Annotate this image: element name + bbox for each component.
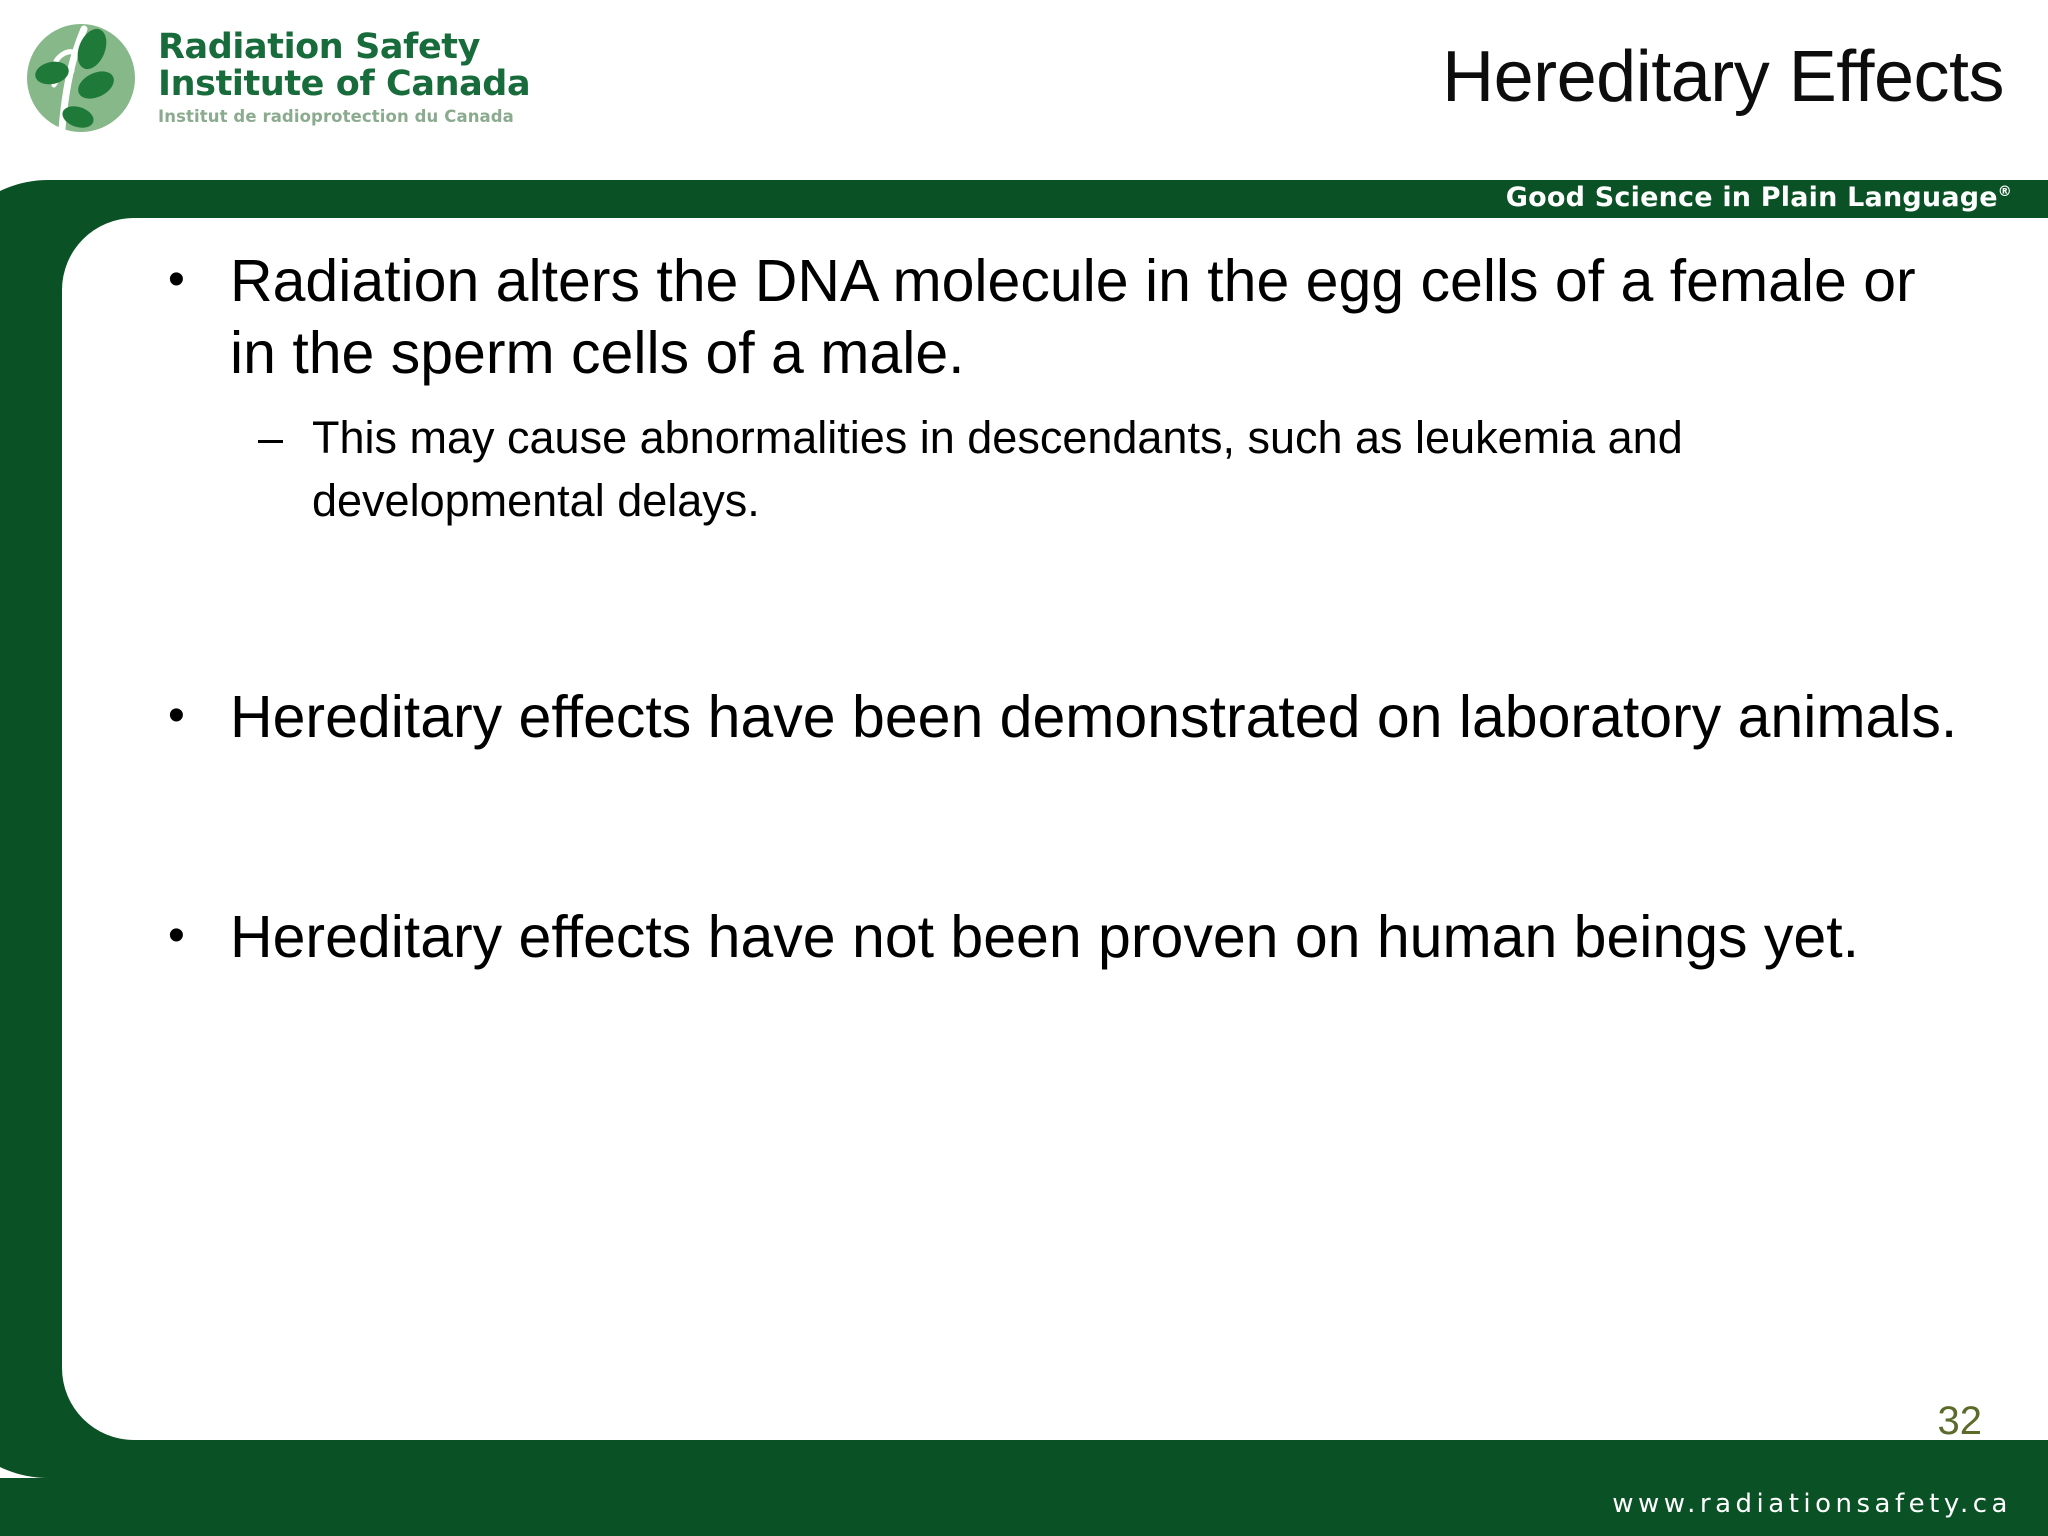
organization-logo: Radiation Safety Institute of Canada Ins… (22, 18, 530, 138)
website-url[interactable]: www.radiationsafety.ca (1612, 1489, 2012, 1519)
slide-header: Radiation Safety Institute of Canada Ins… (0, 0, 2048, 180)
bullet-text: Radiation alters the DNA molecule in the… (230, 246, 1960, 390)
bullet-text: Hereditary effects have been demonstrate… (230, 682, 1960, 754)
sub-bullet-text: This may cause abnormalities in descenda… (312, 406, 1882, 532)
bullet-marker-icon: • (168, 682, 185, 750)
logo-line-3-french: Institut de radioprotection du Canada (158, 109, 530, 126)
page-title: Hereditary Effects (1442, 36, 2004, 118)
dash-marker-icon: – (258, 406, 283, 469)
brand-tagline: Good Science in Plain Language® (1506, 182, 2012, 213)
bullet-list: • Radiation alters the DNA molecule in t… (150, 246, 1960, 974)
bullet-marker-icon: • (168, 246, 185, 314)
slide-body: • Radiation alters the DNA molecule in t… (150, 246, 1960, 1396)
bullet-text: Hereditary effects have not been proven … (230, 902, 1960, 974)
list-item: • Radiation alters the DNA molecule in t… (150, 246, 1960, 532)
registered-mark: ® (1998, 184, 2012, 200)
logo-line-1: Radiation Safety (158, 30, 530, 65)
bullet-marker-icon: • (168, 902, 185, 970)
vertical-spacer (150, 532, 1960, 682)
logo-line-2: Institute of Canada (158, 67, 530, 102)
slide: Radiation Safety Institute of Canada Ins… (0, 0, 2048, 1536)
tagline-text: Good Science in Plain Language (1506, 182, 1998, 213)
footer-bar: www.radiationsafety.ca (0, 1478, 2048, 1536)
sub-bullet-list: – This may cause abnormalities in descen… (230, 406, 1960, 532)
list-item: • Hereditary effects have not been prove… (150, 902, 1960, 974)
list-item: – This may cause abnormalities in descen… (244, 406, 1882, 532)
vertical-spacer (150, 754, 1960, 902)
page-number: 32 (1938, 1399, 1983, 1444)
leaf-branch-logo-icon (22, 19, 140, 137)
list-item: • Hereditary effects have been demonstra… (150, 682, 1960, 754)
